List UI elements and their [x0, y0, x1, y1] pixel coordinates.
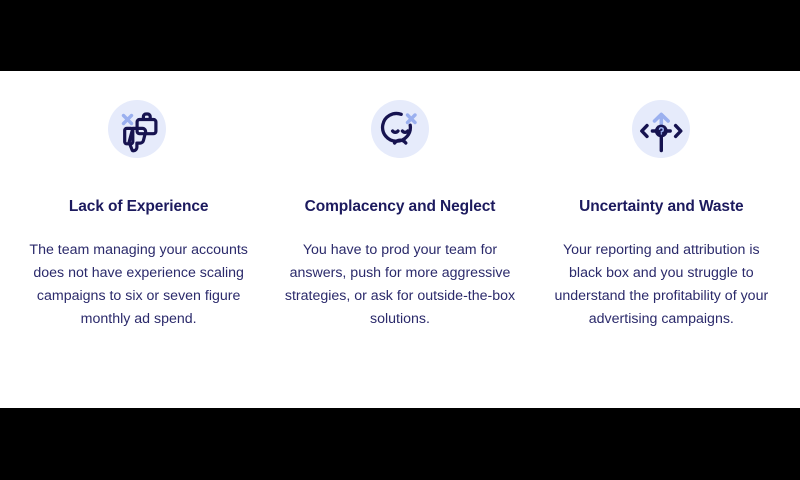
feature-card-uncertainty-and-waste: Uncertainty and Waste Your reporting and… [531, 71, 792, 331]
letterbox-top-bar [0, 0, 800, 71]
feature-card-lack-of-experience: Lack of Experience The team managing you… [8, 71, 269, 331]
thumbs-down-briefcase-x-icon [108, 100, 170, 162]
screen-root: Lack of Experience The team managing you… [0, 0, 800, 480]
feature-card-complacency-and-neglect: Complacency and Neglect You have to prod… [269, 71, 530, 331]
feature-columns: Lack of Experience The team managing you… [0, 71, 800, 408]
card-title: Lack of Experience [69, 198, 209, 217]
card-body-text: Your reporting and attribution is black … [545, 239, 778, 331]
card-body-text: You have to prod your team for answers, … [283, 239, 516, 331]
card-title: Complacency and Neglect [305, 198, 496, 217]
sad-face-x-icon [369, 100, 431, 162]
letterbox-bottom-bar [0, 408, 800, 480]
card-title: Uncertainty and Waste [579, 198, 743, 217]
icon-container [108, 100, 170, 162]
card-body-text: The team managing your accounts does not… [23, 239, 255, 331]
icon-container [630, 100, 692, 162]
icon-container [369, 100, 431, 162]
content-area: Lack of Experience The team managing you… [0, 71, 800, 408]
direction-signpost-question-icon [630, 100, 692, 162]
